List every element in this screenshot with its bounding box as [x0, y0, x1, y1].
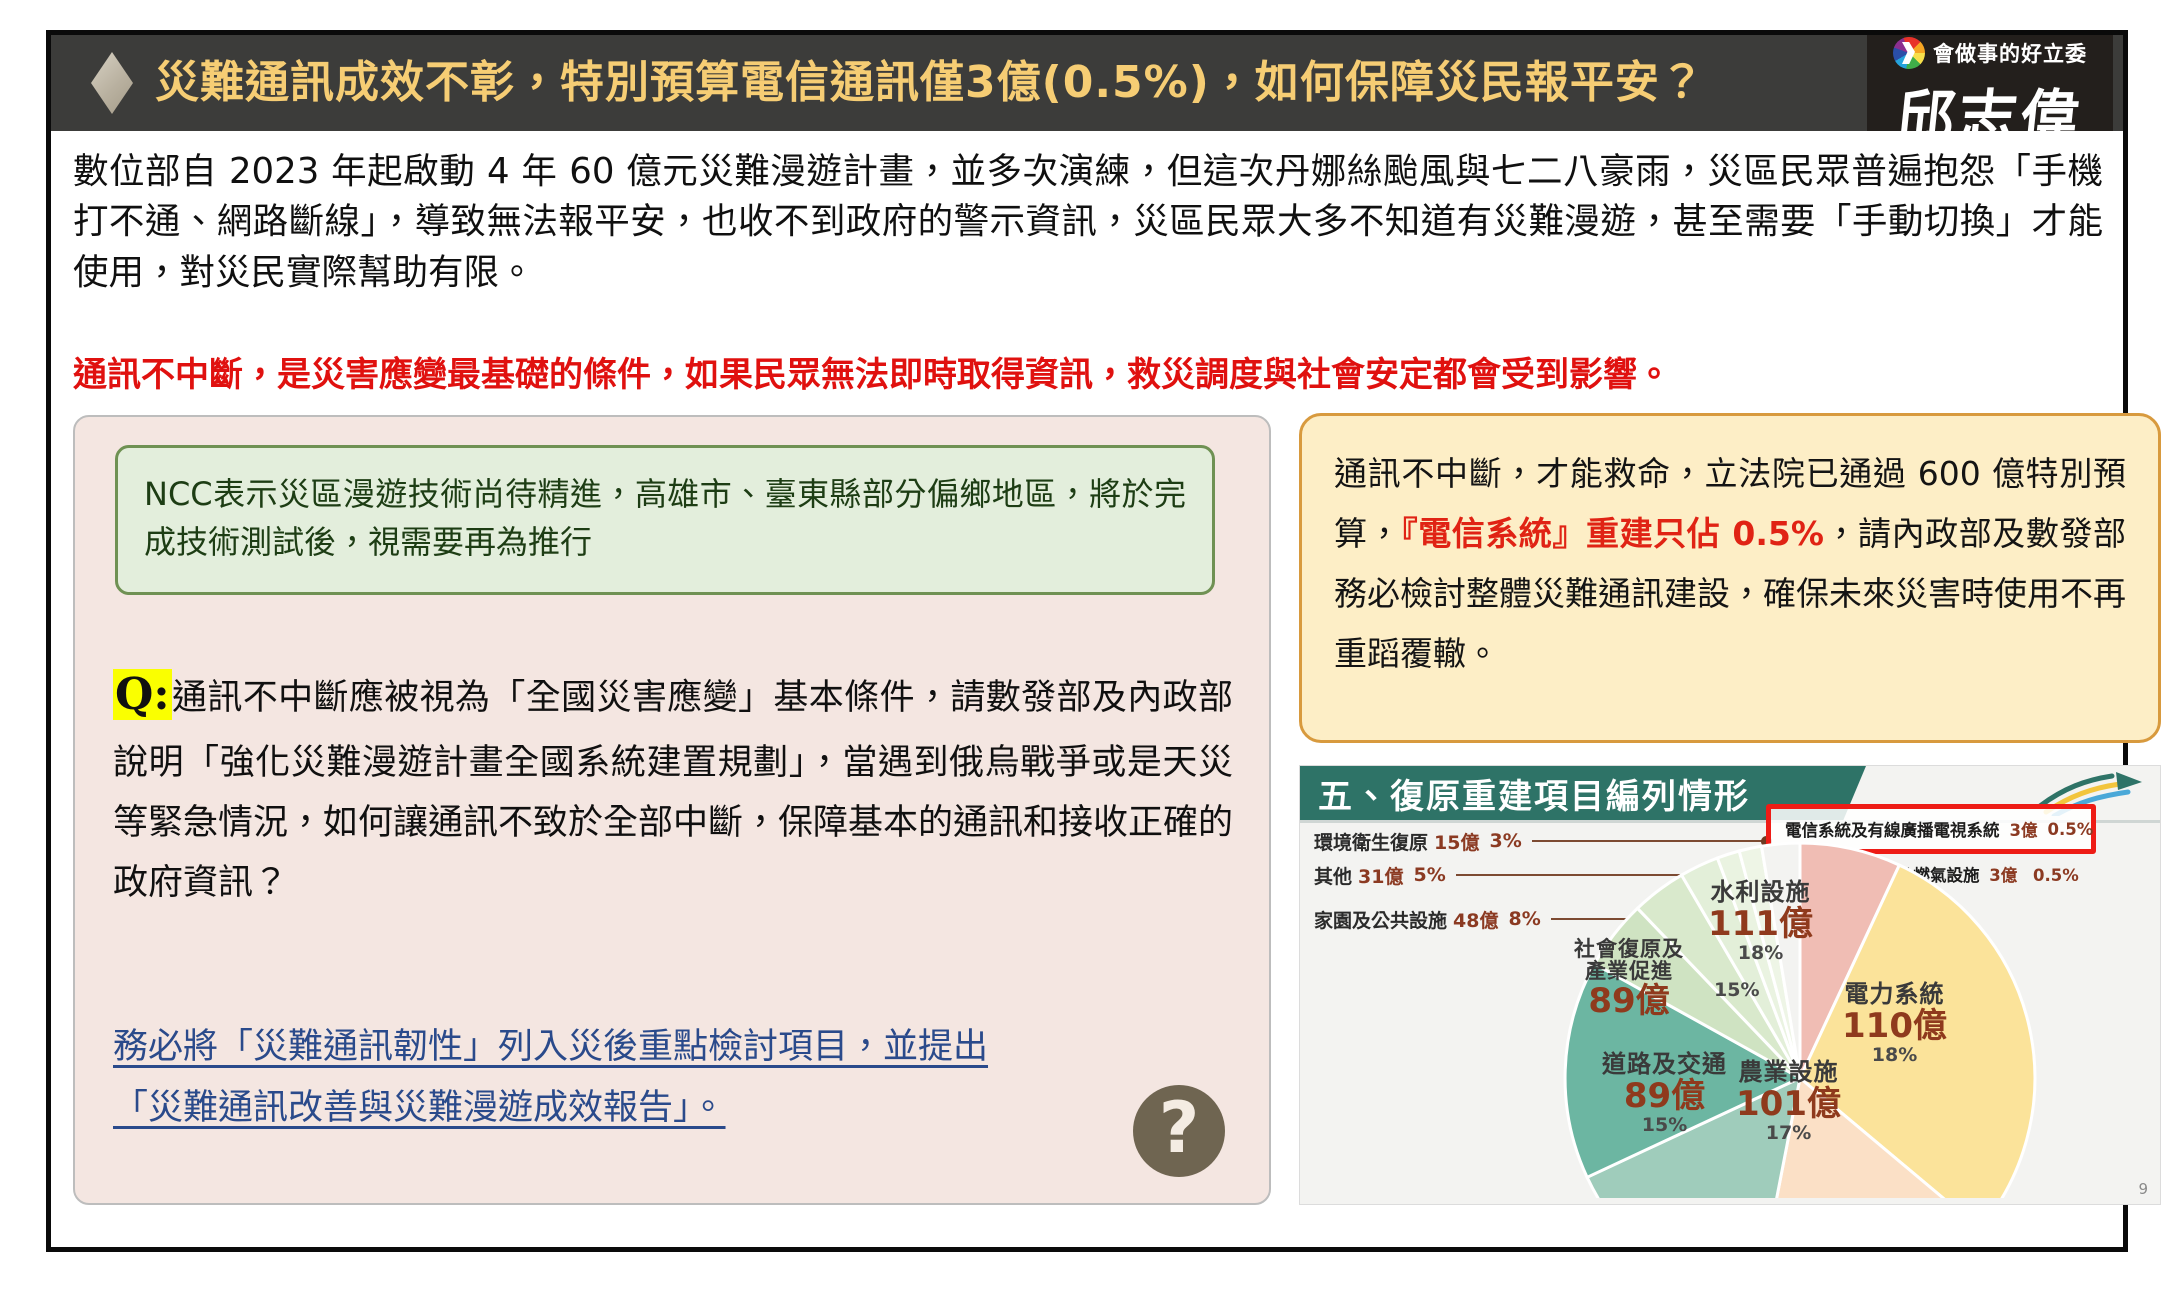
leader-value: 15億 — [1434, 828, 1479, 855]
action-line-1[interactable]: 務必將「災難通訊韌性」列入災後重點檢討項目，並提出 — [113, 1027, 988, 1067]
pie-label-percent: 18% — [1708, 944, 1813, 964]
slide-header: 災難通訊成效不彰，特別預算電信通訊僅3億(0.5%)，如何保障災民報平安？ 會做… — [51, 35, 2123, 131]
pie-label-value: 89億 — [1574, 984, 1684, 1020]
pie-label-道路及交通: 道路及交通 89億 15% — [1602, 1052, 1727, 1136]
leader-percent: 3% — [1489, 830, 1521, 852]
pie-label-value: 110億 — [1842, 1009, 1947, 1045]
slide-root: 災難通訊成效不彰，特別預算電信通訊僅3億(0.5%)，如何保障災民報平安？ 會做… — [0, 0, 2173, 1292]
legislator-logo: 會做事的好立委 邱志偉 — [1867, 35, 2113, 131]
leader-value: 31億 — [1358, 862, 1403, 889]
leader-name: 家園及公共設施 — [1314, 906, 1447, 933]
ncc-statement-box: NCC表示災區漫遊技術尚待精進，高雄市、臺東縣部分偏鄉地區，將於完成技術測試後，… — [115, 445, 1215, 595]
pie-label-value: 89億 — [1602, 1079, 1727, 1115]
pie-label-水利設施: 水利設施 111億 18% — [1708, 880, 1813, 964]
pie-label-name: 水利設施 — [1708, 880, 1813, 905]
right-note-highlight: 『電信系統』重建只佔 0.5% — [1401, 514, 1824, 553]
rainbow-circle-logo-icon — [1893, 37, 1925, 69]
pie-label-農業設施: 農業設施 101億 17% — [1736, 1060, 1841, 1144]
slide-frame: 災難通訊成效不彰，特別預算電信通訊僅3億(0.5%)，如何保障災民報平安？ 會做… — [46, 30, 2128, 1252]
left-panel: NCC表示災區漫遊技術尚待精進，高雄市、臺東縣部分偏鄉地區，將於完成技術測試後，… — [73, 415, 1271, 1205]
question-block: Q:通訊不中斷應被視為「全國災害應變」基本條件，請數發部及內政部說明「強化災難漫… — [113, 657, 1233, 913]
leader-value: 48億 — [1453, 906, 1498, 933]
leader-name: 其他 — [1314, 862, 1352, 889]
pie-label-社會復原及產業促進: 社會復原及產業促進 89億 — [1574, 938, 1684, 1020]
pie-label-percent: 17% — [1736, 1124, 1841, 1144]
callout-percent: 0.5% — [2047, 820, 2093, 839]
pie-chart: 水利設施 111億 18% 電力系統 110億 18% 農業設施 101億 17… — [1550, 828, 2050, 1198]
page-number: 9 — [2138, 1180, 2148, 1198]
pie-chart-card: 五、復原重建項目編列情形 環境衛生復原 15億 3% 其他 31億 5% — [1299, 765, 2161, 1205]
action-request[interactable]: 務必將「災難通訊韌性」列入災後重點檢討項目，並提出 「災難通訊改善與災難漫遊成效… — [113, 1017, 1163, 1140]
pie-label-value: 101億 — [1736, 1087, 1841, 1123]
leader-percent: 8% — [1508, 908, 1540, 930]
logo-slogan: 會做事的好立委 — [1933, 38, 2087, 68]
action-line-2[interactable]: 「災難通訊改善與災難漫遊成效報告」。 — [113, 1088, 726, 1128]
leader-name: 環境衛生復原 — [1314, 828, 1428, 855]
pie-label-value: 111億 — [1708, 907, 1813, 943]
pie-label-percent: 18% — [1842, 1046, 1947, 1066]
pie-label-name: 電力系統 — [1842, 982, 1947, 1007]
pie-label-name: 農業設施 — [1736, 1060, 1841, 1085]
leader-percent: 5% — [1413, 864, 1445, 886]
question-text: 通訊不中斷應被視為「全國災害應變」基本條件，請數發部及內政部說明「強化災難漫遊計… — [113, 678, 1233, 903]
question-marker: Q: — [113, 669, 172, 720]
pie-label-percent: 15% — [1602, 1116, 1727, 1136]
question-mark-circle-icon: ? — [1133, 1085, 1225, 1177]
intro-paragraph: 數位部自 2023 年起啟動 4 年 60 億元災難漫遊計畫，並多次演練，但這次… — [73, 147, 2103, 298]
right-note-box: 通訊不中斷，才能救命，立法院已通過 600 億特別預算，『電信系統』重建只佔 0… — [1299, 413, 2161, 743]
logo-name: 邱志偉 — [1892, 69, 2088, 131]
logo-top-row: 會做事的好立委 — [1893, 36, 2087, 70]
pie-label-電力系統: 電力系統 110億 18% — [1842, 982, 1947, 1066]
intro-red-statement: 通訊不中斷，是災害應變最基礎的條件，如果民眾無法即時取得資訊，救災調度與社會安定… — [73, 353, 2103, 397]
pie-label-社會復原及產業促進-percent: 15% — [1714, 980, 1759, 1001]
pie-label-name: 道路及交通 — [1602, 1052, 1727, 1077]
pie-label-name: 社會復原及產業促進 — [1574, 938, 1684, 982]
page-title: 災難通訊成效不彰，特別預算電信通訊僅3億(0.5%)，如何保障災民報平安？ — [155, 61, 1867, 105]
diamond-icon — [91, 52, 133, 114]
pie-label-percent: 15% — [1714, 981, 1759, 1001]
